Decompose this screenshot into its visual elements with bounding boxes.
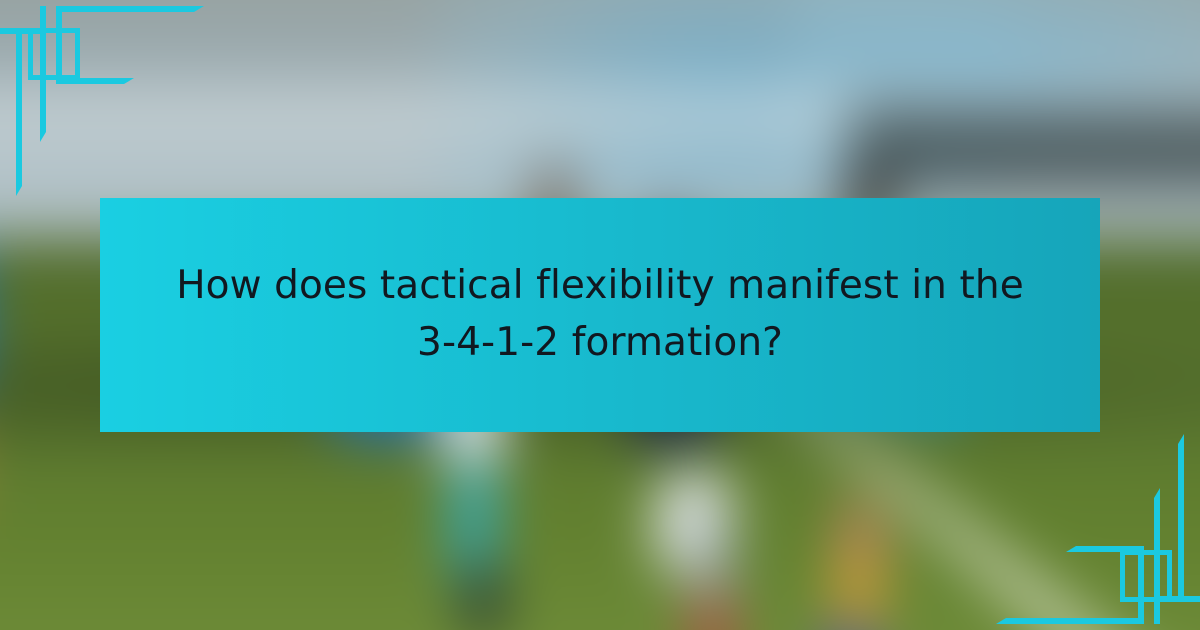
hollow-square-accent [1120, 550, 1172, 602]
bracket-line-vertical-outer [16, 28, 22, 196]
bracket-line-vertical-outer [1178, 434, 1184, 602]
corner-bracket-bottom-right [940, 420, 1200, 630]
player-figure-a-sock [469, 560, 499, 630]
bracket-line-horizontal-outer [56, 6, 204, 12]
question-card-graphic: How does tactical flexibility manifest i… [0, 0, 1200, 630]
stadium-shadow-band [849, 85, 1200, 192]
headline-banner: How does tactical flexibility manifest i… [100, 198, 1100, 432]
corner-bracket-top-left [0, 0, 260, 210]
headline-text: How does tactical flexibility manifest i… [164, 258, 1036, 371]
bracket-line-horizontal-outer [996, 618, 1144, 624]
player-figure-c-shorts [835, 560, 878, 630]
hollow-square-accent [28, 28, 80, 80]
